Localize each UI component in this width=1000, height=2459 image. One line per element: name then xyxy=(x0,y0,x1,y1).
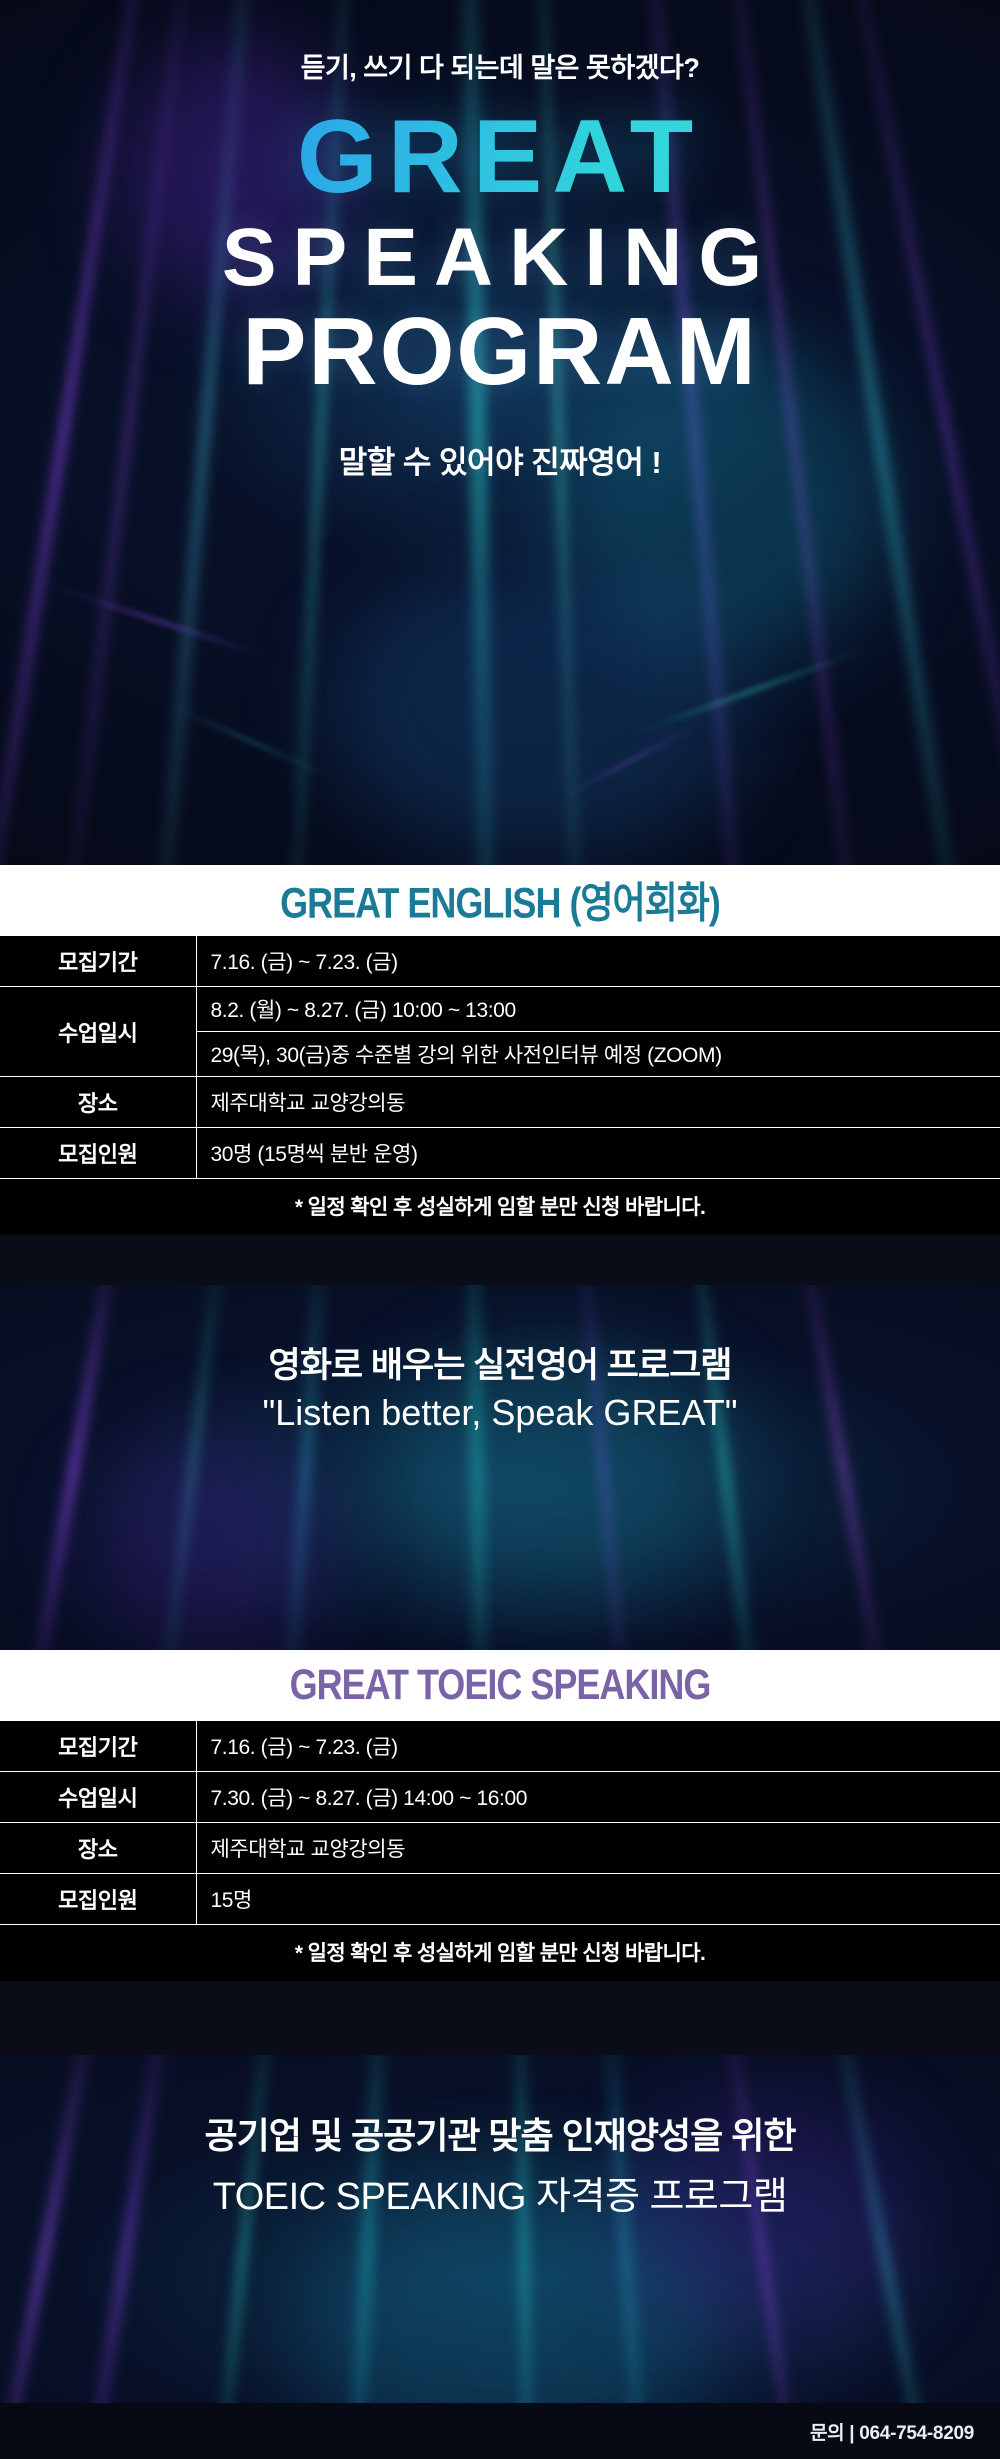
english-section-title: GREAT ENGLISH (영어회화) xyxy=(280,869,720,930)
promo-bottom-line1: 공기업 및 공공기관 맞춤 인재양성을 위한 xyxy=(0,2107,1000,2159)
row-label: 모집인원 xyxy=(0,1128,196,1179)
toeic-note: * 일정 확인 후 성실하게 임할 분만 신청 바랍니다. xyxy=(0,1925,1000,1981)
hero-title-great: GREAT xyxy=(0,107,1000,209)
promo-bottom-line2: TOEIC SPEAKING 자격증 프로그램 xyxy=(0,2165,1000,2220)
table-row: 모집인원 30명 (15명씩 분반 운영) xyxy=(0,1128,1000,1179)
row-label: 모집인원 xyxy=(0,1874,196,1925)
row-value: 7.16. (금) ~ 7.23. (금) xyxy=(196,1721,1000,1772)
hero-title-speaking: SPEAKING xyxy=(0,215,1000,301)
toeic-title-strip: GREAT TOEIC SPEAKING xyxy=(0,1650,1000,1720)
table-row: 모집기간 7.16. (금) ~ 7.23. (금) xyxy=(0,936,1000,987)
row-label: 장소 xyxy=(0,1823,196,1874)
row-value: 제주대학교 교양강의동 xyxy=(196,1823,1000,1874)
table-row: 장소 제주대학교 교양강의동 xyxy=(0,1823,1000,1874)
row-value: 8.2. (월) ~ 8.27. (금) 10:00 ~ 13:00 xyxy=(196,987,1000,1032)
promo-middle-band: 영화로 배우는 실전영어 프로그램 "Listen better, Speak … xyxy=(0,1285,1000,1650)
english-title-strip: GREAT ENGLISH (영어회화) xyxy=(0,865,1000,935)
toeic-section-title: GREAT TOEIC SPEAKING xyxy=(290,1660,711,1710)
table-row: 수업일시 7.30. (금) ~ 8.27. (금) 14:00 ~ 16:00 xyxy=(0,1772,1000,1823)
promo-middle-line1: 영화로 배우는 실전영어 프로그램 xyxy=(0,1337,1000,1388)
toeic-info-table-wrap: 모집기간 7.16. (금) ~ 7.23. (금) 수업일시 7.30. (금… xyxy=(0,1720,1000,1981)
row-label: 수업일시 xyxy=(0,1772,196,1823)
row-value: 30명 (15명씩 분반 운영) xyxy=(196,1128,1000,1179)
poster-root: 듣기, 쓰기 다 되는데 말은 못하겠다? GREAT SPEAKING PRO… xyxy=(0,0,1000,2459)
row-value: 15명 xyxy=(196,1874,1000,1925)
table-row: 수업일시 8.2. (월) ~ 8.27. (금) 10:00 ~ 13:00 xyxy=(0,987,1000,1032)
table-row: 장소 제주대학교 교양강의동 xyxy=(0,1077,1000,1128)
row-label: 장소 xyxy=(0,1077,196,1128)
hero-title-program: PROGRAM xyxy=(0,303,1000,401)
english-note: * 일정 확인 후 성실하게 임할 분만 신청 바랍니다. xyxy=(0,1179,1000,1235)
footer-bar: 문의 | 064-754-8209 xyxy=(0,2403,1000,2459)
toeic-info-table: 모집기간 7.16. (금) ~ 7.23. (금) 수업일시 7.30. (금… xyxy=(0,1720,1000,1925)
promo-bottom-band: 공기업 및 공공기관 맞춤 인재양성을 위한 TOEIC SPEAKING 자격… xyxy=(0,2055,1000,2459)
promo-middle-line2: "Listen better, Speak GREAT" xyxy=(0,1392,1000,1434)
row-label: 모집기간 xyxy=(0,1721,196,1772)
row-value: 7.16. (금) ~ 7.23. (금) xyxy=(196,936,1000,987)
table-row: 모집기간 7.16. (금) ~ 7.23. (금) xyxy=(0,1721,1000,1772)
table-row: 모집인원 15명 xyxy=(0,1874,1000,1925)
row-value: 7.30. (금) ~ 8.27. (금) 14:00 ~ 16:00 xyxy=(196,1772,1000,1823)
hero-kicker: 듣기, 쓰기 다 되는데 말은 못하겠다? xyxy=(0,46,1000,85)
english-info-table: 모집기간 7.16. (금) ~ 7.23. (금) 수업일시 8.2. (월)… xyxy=(0,935,1000,1179)
row-value: 29(목), 30(금)중 수준별 강의 위한 사전인터뷰 예정 (ZOOM) xyxy=(196,1032,1000,1077)
hero-section: 듣기, 쓰기 다 되는데 말은 못하겠다? GREAT SPEAKING PRO… xyxy=(0,0,1000,865)
row-label: 수업일시 xyxy=(0,987,196,1077)
row-label: 모집기간 xyxy=(0,936,196,987)
english-info-table-wrap: 모집기간 7.16. (금) ~ 7.23. (금) 수업일시 8.2. (월)… xyxy=(0,935,1000,1235)
hero-tagline: 말할 수 있어야 진짜영어 ! xyxy=(0,437,1000,482)
row-value: 제주대학교 교양강의동 xyxy=(196,1077,1000,1128)
contact-info: 문의 | 064-754-8209 xyxy=(810,2418,1000,2445)
